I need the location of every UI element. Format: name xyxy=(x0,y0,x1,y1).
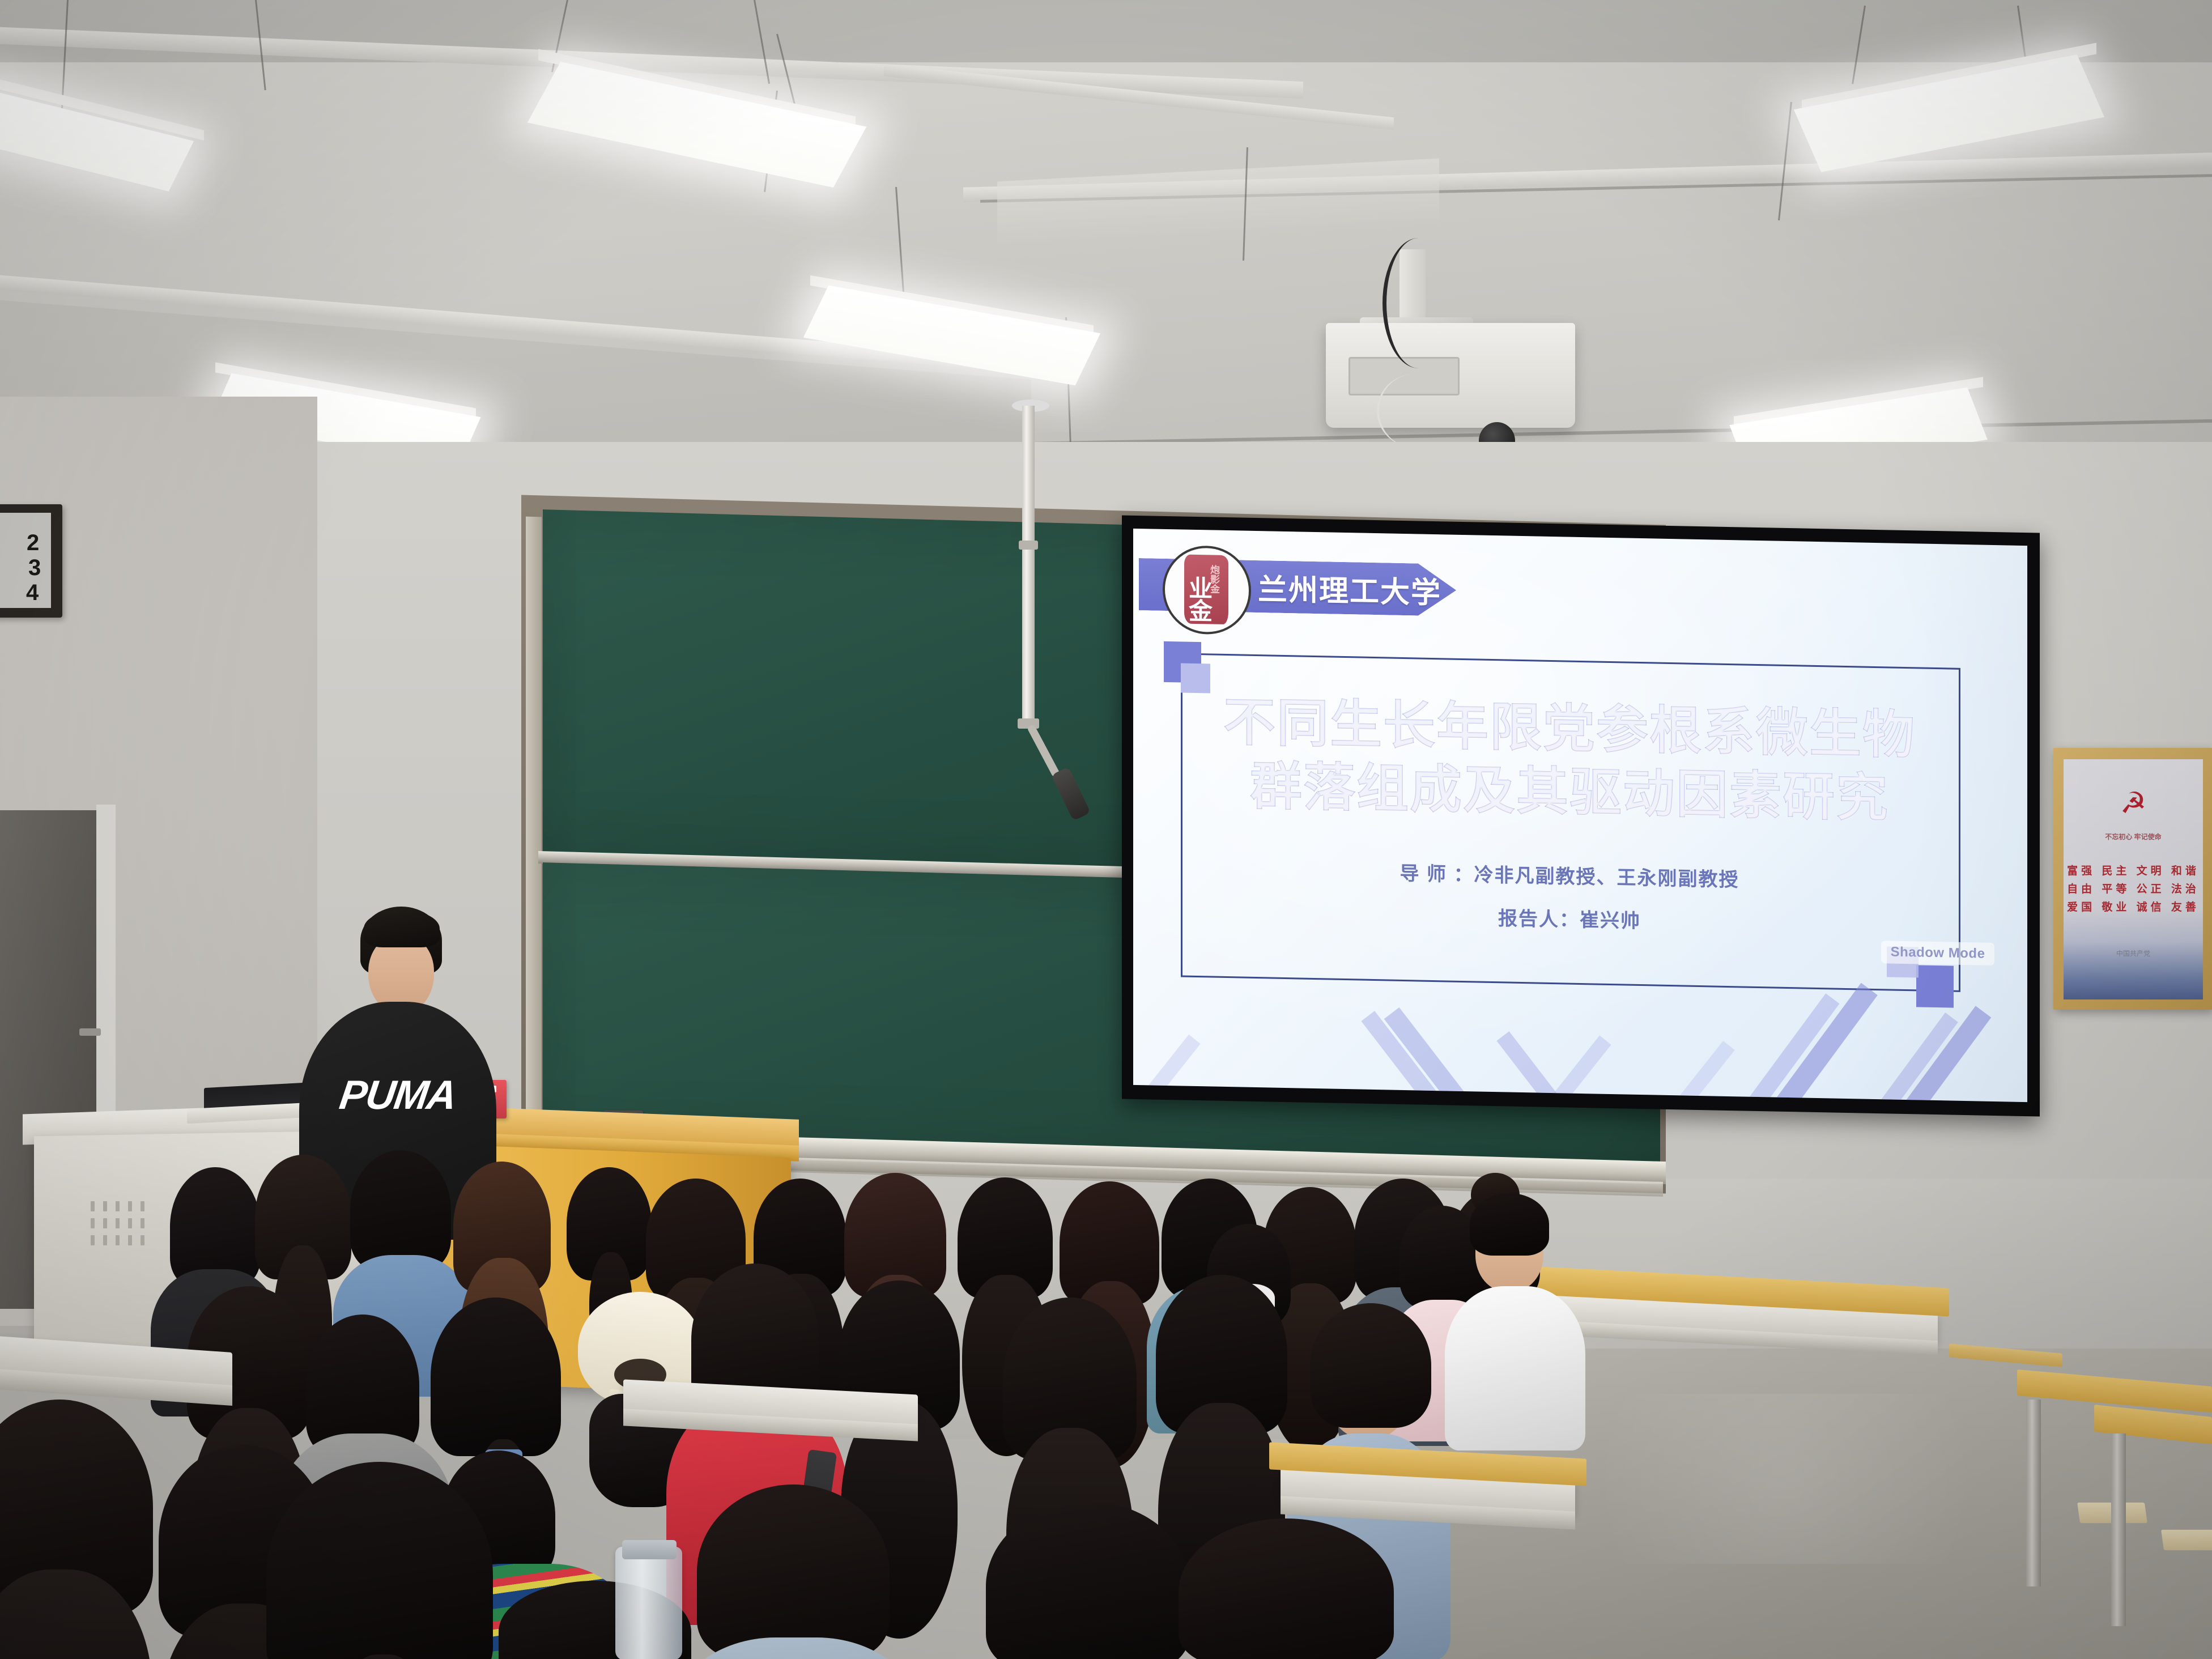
hair xyxy=(1470,1193,1549,1256)
floor-reflection xyxy=(1530,1394,2040,1564)
party-emblem-icon: ☭ xyxy=(2064,789,2203,818)
desk-right-2-seat xyxy=(2161,1530,2212,1550)
desk-right-1-leg xyxy=(2026,1399,2041,1586)
presenter-hair-front xyxy=(364,910,440,947)
hair xyxy=(1310,1303,1431,1428)
projector-power-cable xyxy=(1382,238,1454,368)
poster-footer: 中国共产党 xyxy=(2064,948,2203,958)
title-accent-square-light xyxy=(1181,663,1210,693)
hair xyxy=(697,1484,890,1659)
hair xyxy=(1179,1518,1394,1659)
mic-pole xyxy=(1022,406,1035,723)
values-line-1: 富强 民主 文明 和谐 xyxy=(2064,862,2203,878)
lecture-hall-photo: 2 3 4 兰州理工大学 业金 炮影金 不同生长年限党参根系微生物 群落组成及 xyxy=(0,0,2212,1659)
logo-side-glyph: 炮影金 xyxy=(1210,565,1220,594)
clock-face xyxy=(0,513,51,608)
torso xyxy=(1445,1286,1585,1450)
clock-numeral-2: 2 xyxy=(27,531,39,554)
cabinet-vent-grid xyxy=(91,1201,181,1264)
mic-pole-collar xyxy=(1019,541,1038,550)
hair xyxy=(170,1167,261,1286)
clock-numeral-4: 4 xyxy=(26,581,39,604)
values-poster: ☭ 不忘初心 牢记使命 富强 民主 文明 和谐 自由 平等 公正 法治 爱国 敬… xyxy=(2064,759,2203,999)
projection-screen[interactable]: 兰州理工大学 业金 炮影金 不同生长年限党参根系微生物 群落组成及其驱动因素研究… xyxy=(1133,529,2027,1102)
water-bottle-cap[interactable] xyxy=(622,1540,677,1559)
university-name: 兰州理工大学 xyxy=(1258,565,1441,611)
projector-signal-cable xyxy=(1377,374,1453,448)
hair xyxy=(431,1298,561,1456)
poster-emblem-subtitle: 不忘初心 牢记使命 xyxy=(2064,832,2203,841)
desk-right-2-leg xyxy=(2111,1433,2126,1626)
title-accent-square-br xyxy=(1916,965,1954,1007)
shadow-mode-watermark: Shadow Mode xyxy=(1881,941,1994,965)
water-bottle[interactable] xyxy=(615,1547,682,1659)
door-handle[interactable] xyxy=(79,1028,101,1036)
hair xyxy=(350,1150,451,1270)
university-logo: 业金 炮影金 xyxy=(1163,545,1251,635)
clock-numeral-3: 3 xyxy=(28,556,41,579)
values-line-3: 爱国 敬业 诚信 友善 xyxy=(2064,899,2203,914)
values-line-2: 自由 平等 公正 法治 xyxy=(2064,880,2203,896)
blackboard-left-edge xyxy=(526,517,542,1169)
presenter-hoodie-brand: PUMA xyxy=(332,1072,463,1118)
